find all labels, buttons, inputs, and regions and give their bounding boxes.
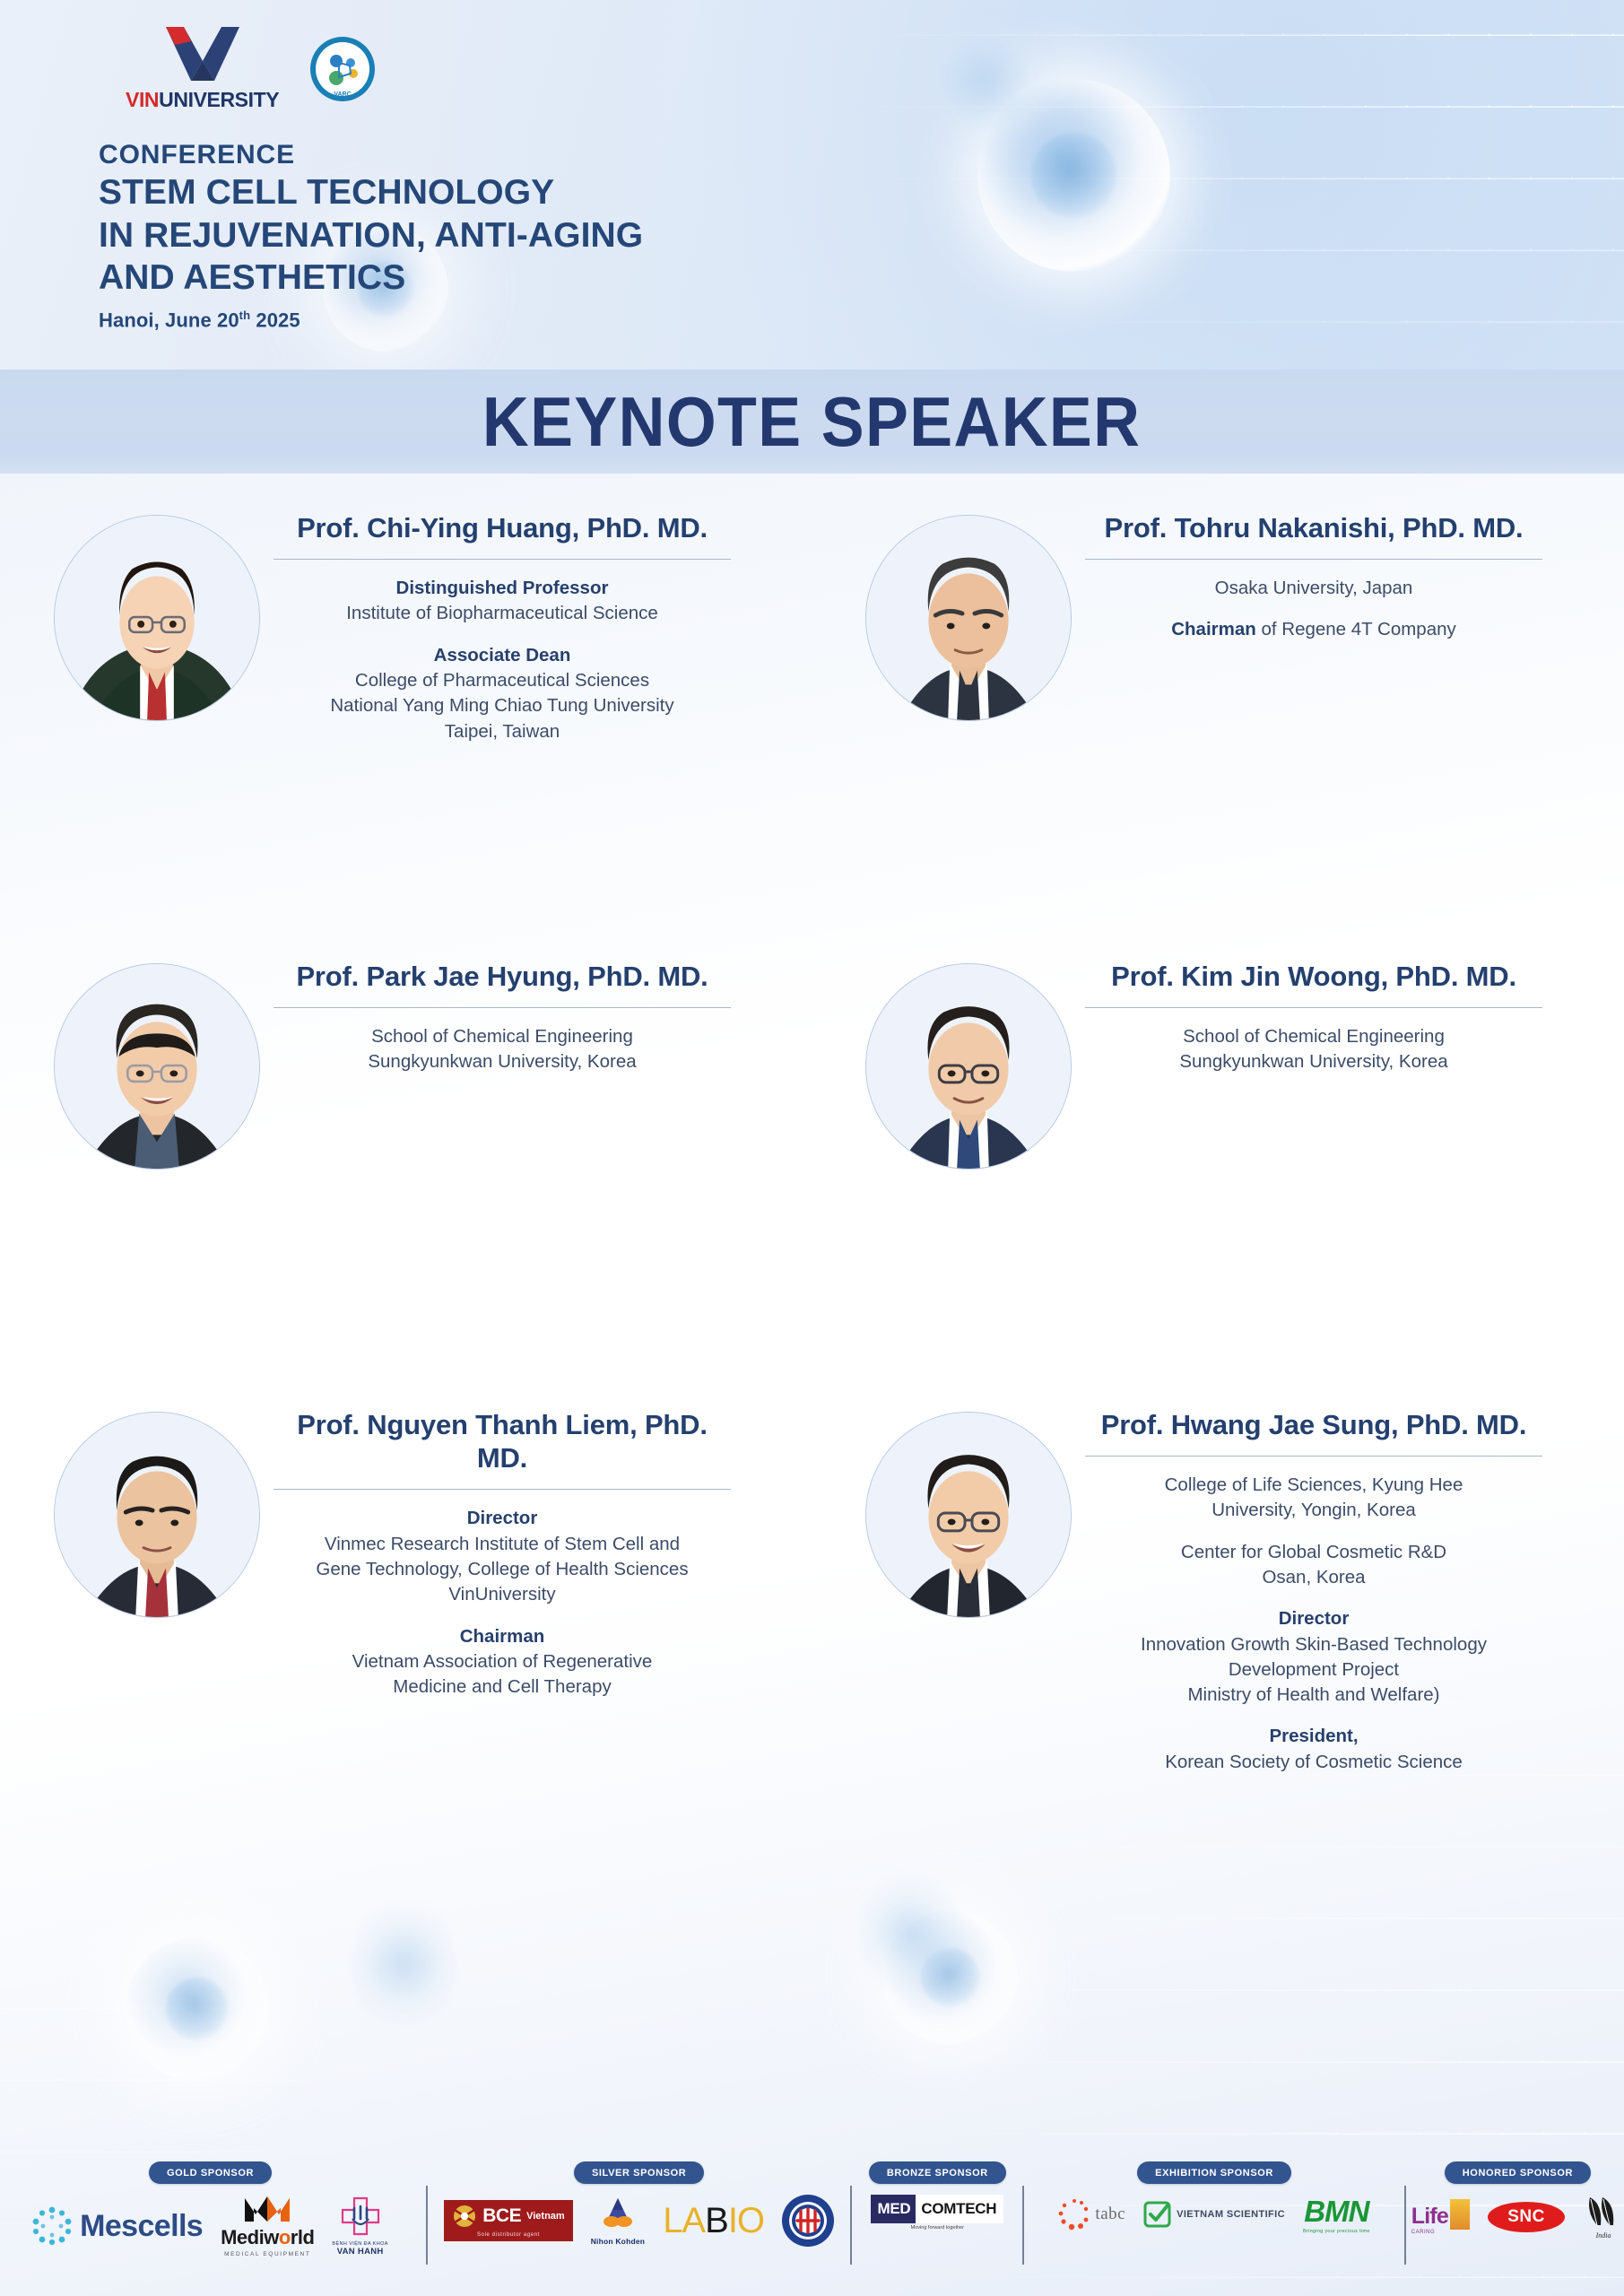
snc-wordmark: SNC	[1507, 2207, 1545, 2227]
sponsor-logo-tabc: tabc	[1058, 2198, 1125, 2231]
mediworld-wordmark: Mediworld	[221, 2226, 314, 2249]
varc-label: VARC	[334, 91, 352, 98]
conference-title-line-2: IN REJUVENATION, ANTI-AGING	[99, 215, 643, 256]
speaker-card: Prof. Kim Jin Woong, PhD. MD. School of …	[812, 951, 1624, 1399]
speaker-name-line-2: PhD. MD.	[587, 961, 708, 992]
affiliation-role: President,	[1085, 1724, 1542, 1749]
speaker-name-line-1: Prof. Nguyen Thanh Liem,	[297, 1409, 637, 1440]
conference-title-block: CONFERENCE STEM CELL TECHNOLOGY IN REJUV…	[99, 139, 643, 332]
bce-dna-icon	[452, 2205, 477, 2228]
avatar	[54, 963, 260, 1170]
affiliation-block: Director Vinmec Research Institute of St…	[274, 1506, 731, 1607]
sponsor-logo-leaf: India	[1583, 2195, 1624, 2239]
check-square-icon	[1143, 2201, 1172, 2228]
sponsor-logo-medcomtech: MED COMTECH Moving forward together	[871, 2195, 1003, 2231]
speaker-portrait-icon	[55, 516, 259, 720]
bce-block: BCE Vietnam	[444, 2200, 572, 2232]
affiliation-line: Sungkyunkwan University, Korea	[1085, 1049, 1542, 1074]
stem-cell-graphic-bottom-left	[126, 1937, 269, 2081]
affiliation-block: President, Korean Society of Cosmetic Sc…	[1085, 1724, 1542, 1775]
medcomtech-right: COMTECH	[916, 2195, 1003, 2223]
affiliation-line: Innovation Growth Skin-Based Technology	[1085, 1632, 1542, 1657]
vinuniversity-logo: VINUNIVERSITY	[126, 25, 279, 112]
affiliation-line: Gene Technology, College of Health Scien…	[274, 1557, 731, 1582]
affiliation-block: Associate Dean College of Pharmaceutical…	[274, 643, 731, 744]
speaker-affiliations: Distinguished Professor Institute of Bio…	[274, 560, 731, 744]
sponsor-logo-nihon: Nihon Kohden	[591, 2196, 645, 2246]
speaker-portrait-icon	[55, 964, 259, 1169]
affiliation-line: Sungkyunkwan University, Korea	[274, 1049, 731, 1074]
vinuniversity-wordmark: VINUNIVERSITY	[126, 88, 279, 112]
speaker-info: Prof. Nguyen Thanh Liem, PhD. MD. Direct…	[274, 1399, 731, 1848]
conference-date: Hanoi, June 20th 2025	[99, 309, 643, 332]
conference-eyebrow: CONFERENCE	[99, 139, 643, 170]
affiliation-role: Director	[274, 1506, 731, 1531]
avatar	[865, 1412, 1072, 1618]
affiliation-block: Distinguished Professor Institute of Bio…	[274, 576, 731, 627]
mediworld-tagline: MEDICAL EQUIPMENT	[221, 2251, 314, 2257]
speaker-name: Prof. Kim Jin Woong, PhD. MD.	[1085, 960, 1542, 993]
sponsor-badge: BRONZE SPONSOR	[869, 2161, 1006, 2184]
mescells-dots-icon	[32, 2206, 72, 2246]
hk-mark-icon	[788, 2201, 828, 2240]
speaker-name-line-1: Prof. Chi-Ying Huang,	[297, 512, 579, 544]
speaker-card: Prof. Nguyen Thanh Liem, PhD. MD. Direct…	[0, 1399, 812, 1848]
speaker-name-line-2: PhD. MD.	[586, 512, 707, 544]
affiliation-line: University, Yongin, Korea	[1085, 1498, 1542, 1523]
affiliation-line: of Regene 4T Company	[1256, 619, 1456, 639]
medcomtech-left: MED	[871, 2195, 916, 2223]
speaker-card: Prof. Chi-Ying Huang, PhD. MD. Distingui…	[0, 502, 812, 951]
speaker-name-line-1: Prof. Kim Jin Woong,	[1111, 961, 1388, 992]
affiliation-line: College of Life Sciences, Kyung Hee	[1085, 1473, 1542, 1498]
affiliation-line: Vietnam Association of Regenerative	[274, 1649, 731, 1674]
sponsor-group-exhibition: EXHIBITION SPONSOR tabc	[1029, 2154, 1399, 2296]
sponsor-group-bronze: BRONZE SPONSOR MED COMTECH Moving forwar…	[857, 2154, 1017, 2296]
life-tile-icon	[1450, 2199, 1470, 2230]
sponsor-logo-life: Life CARING	[1411, 2199, 1470, 2235]
date-prefix: Hanoi, June 20	[99, 309, 239, 331]
sponsor-logo-hk	[782, 2195, 834, 2247]
sponsor-badge: SILVER SPONSOR	[574, 2161, 704, 2184]
affiliation-block: School of Chemical Engineering Sungkyunk…	[274, 1024, 731, 1075]
logo-group: VINUNIVERSITY VARC	[126, 25, 376, 112]
affiliation-line: Institute of Biopharmaceutical Science	[274, 601, 731, 626]
mescells-wordmark: Mescells	[80, 2209, 203, 2244]
affiliation-block: Director Innovation Growth Skin-Based Te…	[1085, 1606, 1542, 1708]
speaker-affiliations: School of Chemical Engineering Sungkyunk…	[1085, 1008, 1542, 1075]
sponsor-logo-vanhanh: BỆNH VIỆN ĐA KHOA VAN HANH	[332, 2196, 387, 2257]
keynote-banner-title: KEYNOTE SPEAKER	[482, 381, 1141, 463]
speaker-portrait-icon	[866, 516, 1071, 720]
keynote-banner: KEYNOTE SPEAKER	[0, 370, 1624, 474]
speaker-name-line-1: Prof. Park Jae Hyung,	[296, 961, 579, 992]
sponsor-logo-bmn: BMN Bringing your precious time	[1303, 2195, 1370, 2234]
affiliation-line: School of Chemical Engineering	[1085, 1024, 1542, 1049]
speaker-card: Prof. Hwang Jae Sung, PhD. MD. College o…	[812, 1399, 1624, 1848]
bmn-tagline: Bringing your precious time	[1303, 2229, 1370, 2234]
date-ordinal: th	[239, 309, 250, 322]
life-block: Life	[1411, 2199, 1470, 2230]
affiliation-line: Medicine and Cell Therapy	[274, 1674, 731, 1700]
sponsor-footer: GOLD SPONSOR Mescells	[0, 2154, 1624, 2296]
cell-glow-bottom-a	[354, 1892, 453, 2036]
affiliation-block: College of Life Sciences, Kyung Hee Univ…	[1085, 1473, 1542, 1524]
affiliation-line: Taipei, Taiwan	[274, 719, 731, 744]
medcomtech-block: MED COMTECH	[871, 2195, 1003, 2223]
conference-title-line-1: STEM CELL TECHNOLOGY	[99, 172, 643, 213]
sponsor-logo-bce: BCE Vietnam Sole distributor agent	[444, 2200, 572, 2241]
affiliation-block: Center for Global Cosmetic R&D Osan, Kor…	[1085, 1540, 1542, 1591]
sponsor-divider	[1022, 2186, 1024, 2265]
conference-title-line-3: AND AESTHETICS	[99, 257, 643, 298]
speaker-name-line-2: PhD. MD.	[1406, 1409, 1526, 1440]
affiliation-line: Vinmec Research Institute of Stem Cell a…	[274, 1532, 731, 1557]
tabc-dots-icon	[1058, 2198, 1090, 2231]
speaker-name: Prof. Hwang Jae Sung, PhD. MD.	[1085, 1408, 1542, 1441]
speaker-info: Prof. Hwang Jae Sung, PhD. MD. College o…	[1085, 1399, 1542, 1848]
sponsor-divider	[1404, 2186, 1406, 2265]
affiliation-role: Director	[1085, 1606, 1542, 1631]
affiliation-block: Chairman of Regene 4T Company	[1085, 617, 1542, 642]
leaf-caption: India	[1583, 2231, 1624, 2239]
conference-poster: VINUNIVERSITY VARC CONFERENCE STEM CELL …	[0, 0, 1624, 2296]
affiliation-line: VinUniversity	[274, 1582, 731, 1607]
speaker-name-line-2: PhD. MD.	[1395, 961, 1515, 992]
speaker-info: Prof. Park Jae Hyung, PhD. MD. School of…	[274, 951, 731, 1399]
stem-cell-graphic-bottom-mid	[883, 1910, 1018, 2045]
sponsor-logo-snc: SNC	[1488, 2202, 1565, 2232]
sponsor-logo-row: MED COMTECH Moving forward together	[871, 2195, 1003, 2231]
speaker-name-line-1: Prof. Tohru Nakanishi,	[1105, 512, 1395, 544]
vanhanh-cross-icon	[340, 2196, 381, 2237]
bce-country: Vietnam	[526, 2211, 565, 2222]
speaker-name: Prof. Tohru Nakanishi, PhD. MD.	[1085, 511, 1542, 544]
speaker-info: Prof. Chi-Ying Huang, PhD. MD. Distingui…	[274, 502, 731, 951]
affiliation-line: College of Pharmaceutical Sciences	[274, 668, 731, 693]
sponsor-badge: GOLD SPONSOR	[149, 2161, 272, 2184]
sponsor-badge: HONORED SPONSOR	[1445, 2161, 1591, 2184]
sponsor-logo-row: Life CARING SNC India	[1411, 2195, 1624, 2239]
mediworld-mark-icon	[241, 2195, 293, 2222]
date-year: 2025	[256, 309, 300, 331]
vanhanh-name: VAN HANH	[332, 2247, 387, 2257]
speaker-portrait-icon	[55, 1413, 259, 1617]
speaker-card: Prof. Park Jae Hyung, PhD. MD. School of…	[0, 951, 812, 1399]
nihon-kohden-mark-icon	[599, 2196, 637, 2231]
speaker-card: Prof. Tohru Nakanishi, PhD. MD. Osaka Un…	[812, 502, 1624, 951]
vin-text: VIN	[126, 88, 159, 111]
varc-logo-icon: VARC	[309, 36, 376, 102]
sponsor-badge: EXHIBITION SPONSOR	[1137, 2161, 1291, 2184]
affiliation-line: Korean Society of Cosmetic Science	[1085, 1750, 1542, 1775]
speaker-grid: Prof. Chi-Ying Huang, PhD. MD. Distingui…	[0, 502, 1624, 1848]
affiliation-role: Chairman	[1171, 619, 1256, 639]
bmn-wordmark: BMN	[1303, 2195, 1370, 2229]
bce-tagline: Sole distributor agent	[444, 2232, 572, 2241]
speaker-affiliations: College of Life Sciences, Kyung Hee Univ…	[1085, 1457, 1542, 1775]
sponsor-logo-row: tabc VIETNAM SCIENTIFIC BMN Bringing you…	[1058, 2195, 1369, 2234]
speaker-name-line-2: PhD. MD.	[1403, 512, 1523, 544]
sponsor-group-gold: GOLD SPONSOR Mescells	[0, 2154, 421, 2296]
life-wordmark: Life	[1411, 2204, 1448, 2230]
avatar	[865, 963, 1072, 1170]
vietnam-scientific-wordmark: VIETNAM SCIENTIFIC	[1177, 2209, 1285, 2220]
sponsor-divider	[426, 2186, 428, 2265]
life-tagline: CARING	[1411, 2230, 1470, 2235]
affiliation-line: Development Project	[1085, 1657, 1542, 1683]
avatar	[865, 515, 1072, 721]
speaker-info: Prof. Tohru Nakanishi, PhD. MD. Osaka Un…	[1085, 502, 1542, 951]
avatar	[54, 515, 260, 721]
speaker-info: Prof. Kim Jin Woong, PhD. MD. School of …	[1085, 951, 1542, 1399]
avatar	[54, 1412, 260, 1618]
sponsor-logo-mediworld: Mediworld MEDICAL EQUIPMENT	[221, 2195, 314, 2257]
affiliation-line: National Yang Ming Chiao Tung University	[274, 693, 731, 718]
sponsor-logo-mescells: Mescells	[32, 2206, 203, 2246]
affiliation-block: Osaka University, Japan	[1085, 576, 1542, 601]
affiliation-block: School of Chemical Engineering Sungkyunk…	[1085, 1024, 1542, 1075]
vinuniversity-mark-icon	[164, 25, 241, 84]
medcomtech-tagline: Moving forward together	[871, 2223, 1003, 2231]
affiliation-line: Ministry of Health and Welfare)	[1085, 1683, 1542, 1708]
sponsor-group-honored: HONORED SPONSOR Life CARING SNC	[1411, 2154, 1624, 2296]
affiliation-role: Chairman	[274, 1624, 731, 1649]
speaker-portrait-icon	[866, 964, 1071, 1169]
affiliation-role: Associate Dean	[274, 643, 731, 668]
nihon-wordmark: Nihon Kohden	[591, 2237, 645, 2246]
affiliation-line: Osan, Korea	[1085, 1565, 1542, 1590]
sponsor-divider	[850, 2186, 852, 2265]
sponsor-group-silver: SILVER SPONSOR BCE Vietnam Sole distribu…	[433, 2154, 845, 2296]
speaker-name-line-1: Prof. Hwang Jae Sung,	[1101, 1409, 1399, 1440]
speaker-affiliations: Osaka University, Japan Chairman of Rege…	[1085, 560, 1542, 643]
affiliation-block: Chairman Vietnam Association of Regenera…	[274, 1624, 731, 1700]
speaker-portrait-icon	[866, 1413, 1071, 1617]
speaker-affiliations: School of Chemical Engineering Sungkyunk…	[274, 1008, 731, 1075]
leaf-pair-icon	[1583, 2195, 1624, 2227]
sponsor-logo-labio: LABIO	[663, 2201, 764, 2241]
speaker-name: Prof. Nguyen Thanh Liem, PhD. MD.	[274, 1408, 731, 1474]
affiliation-line: Osaka University, Japan	[1085, 576, 1542, 601]
sponsor-logo-vietnam-scientific: VIETNAM SCIENTIFIC	[1143, 2201, 1285, 2228]
speaker-affiliations: Director Vinmec Research Institute of St…	[274, 1490, 731, 1700]
affiliation-line: School of Chemical Engineering	[274, 1024, 731, 1049]
tabc-wordmark: tabc	[1095, 2205, 1125, 2224]
sponsor-logo-row: BCE Vietnam Sole distributor agent Nihon…	[444, 2195, 834, 2247]
speaker-name: Prof. Chi-Ying Huang, PhD. MD.	[274, 511, 731, 544]
sponsor-logo-row: Mescells Mediworld MEDICAL EQUIPMENT	[32, 2195, 388, 2257]
bce-wordmark: BCE	[482, 2205, 521, 2227]
affiliation-role: Distinguished Professor	[274, 576, 731, 601]
affiliation-line: Center for Global Cosmetic R&D	[1085, 1540, 1542, 1565]
university-text: UNIVERSITY	[159, 88, 279, 111]
speaker-name: Prof. Park Jae Hyung, PhD. MD.	[274, 960, 731, 993]
cell-glow-bottom-b	[861, 1865, 960, 2000]
